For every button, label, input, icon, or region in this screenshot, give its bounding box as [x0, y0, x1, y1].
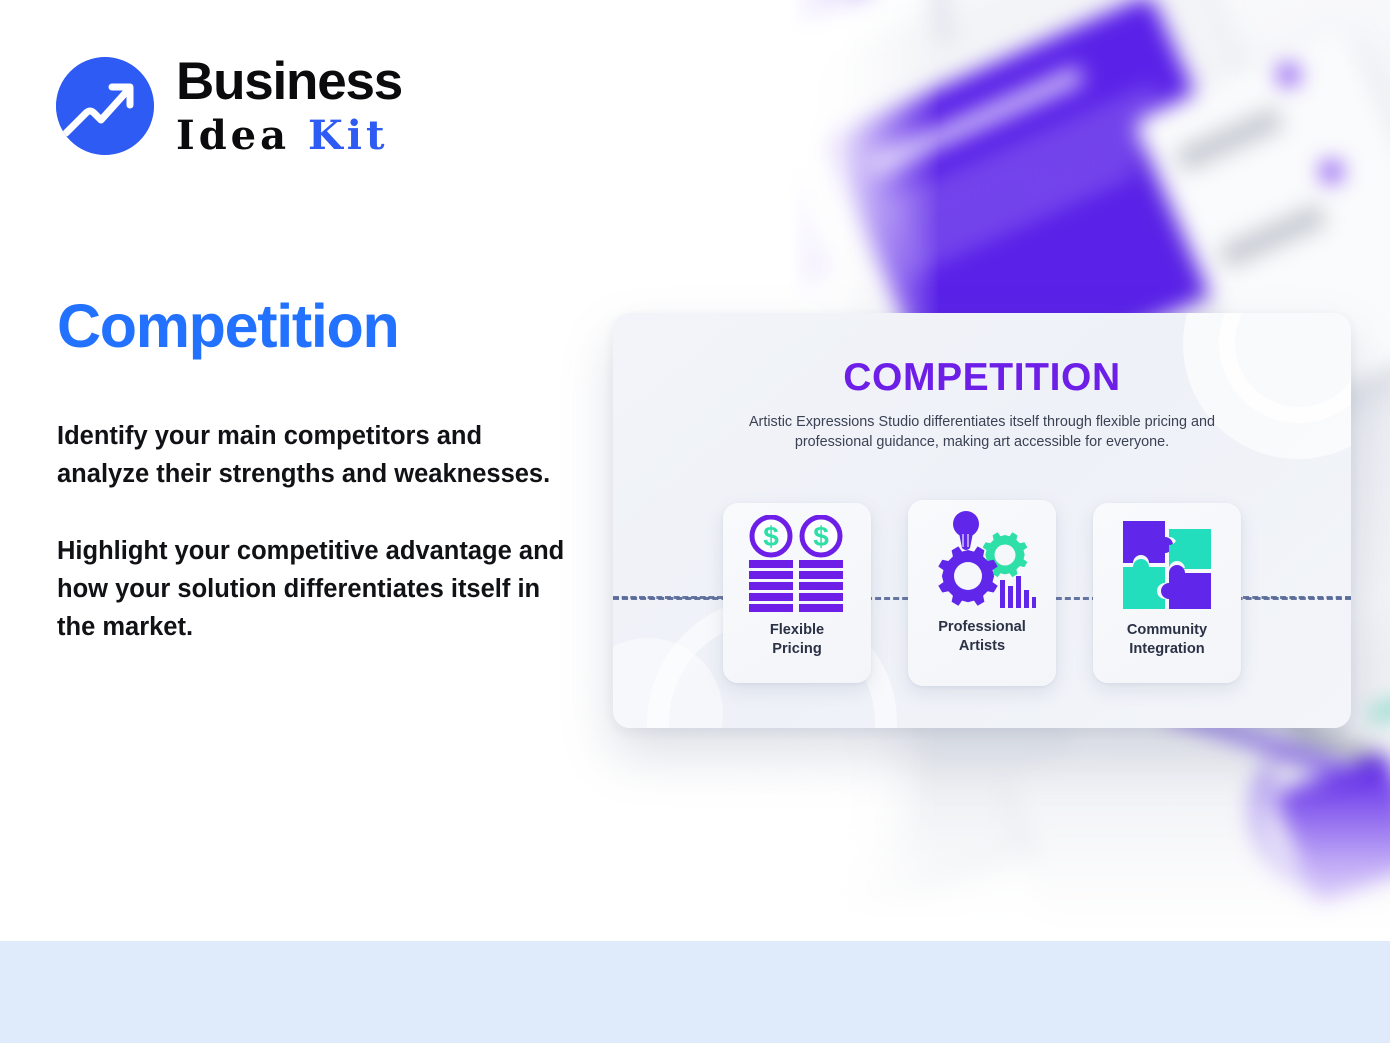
feature-label-line1: Professional [938, 619, 1026, 635]
preview-card-subtitle: Artistic Expressions Studio differentiat… [747, 412, 1217, 453]
slide-root: Business Idea Kit Competition Identify y… [0, 0, 1390, 1043]
trend-arrow-circle-icon [56, 57, 154, 155]
feature-label-line2: Integration [1129, 641, 1204, 657]
svg-text:$: $ [763, 521, 779, 552]
body-paragraph-2: Highlight your competitive advantage and… [57, 533, 577, 646]
coin-stacks-dollar-icon: $ $ [745, 509, 849, 621]
brand-word-kit: Kit [308, 112, 388, 159]
bg-mockup-dot [1317, 157, 1346, 186]
bg-mockup-chip [1174, 106, 1284, 173]
brand-word-idea: Idea [176, 112, 308, 159]
feature-connector-line-left [613, 596, 723, 599]
page-title: Competition [57, 296, 398, 357]
feature-label: Professional Artists [938, 618, 1026, 656]
feature-card-professional-artists[interactable]: Professional Artists [908, 500, 1056, 686]
feature-label-line1: Flexible [770, 622, 824, 638]
feature-card-community-integration[interactable]: Community Integration [1093, 503, 1241, 683]
body-paragraph-1: Identify your main competitors and analy… [57, 418, 577, 493]
gears-lightbulb-chart-icon [928, 506, 1036, 618]
svg-text:$: $ [813, 521, 829, 552]
brand-line-idea-kit: Idea Kit [176, 116, 402, 156]
bg-mockup-dot [1274, 60, 1303, 89]
feature-card-flexible-pricing[interactable]: $ $ [723, 503, 871, 683]
feature-label: Community Integration [1127, 621, 1207, 659]
competition-preview-card[interactable]: COMPETITION Artistic Expressions Studio … [613, 313, 1351, 728]
feature-list: $ $ [613, 503, 1351, 686]
preview-card-title: COMPETITION [613, 356, 1351, 400]
brand-wordmark: Business Idea Kit [176, 55, 402, 156]
bg-mockup-chip [1218, 203, 1328, 270]
feature-label-line2: Pricing [772, 641, 821, 657]
feature-label-line2: Artists [959, 638, 1005, 654]
feature-label-line1: Community [1127, 622, 1207, 638]
bottom-band [0, 941, 1390, 1043]
feature-label: Flexible Pricing [770, 621, 824, 659]
brand-line-business: Business [176, 55, 402, 108]
puzzle-pieces-icon [1119, 509, 1215, 621]
body-copy: Identify your main competitors and analy… [57, 418, 577, 647]
brand-logo[interactable]: Business Idea Kit [56, 55, 402, 156]
feature-connector-line-right [1243, 596, 1351, 599]
